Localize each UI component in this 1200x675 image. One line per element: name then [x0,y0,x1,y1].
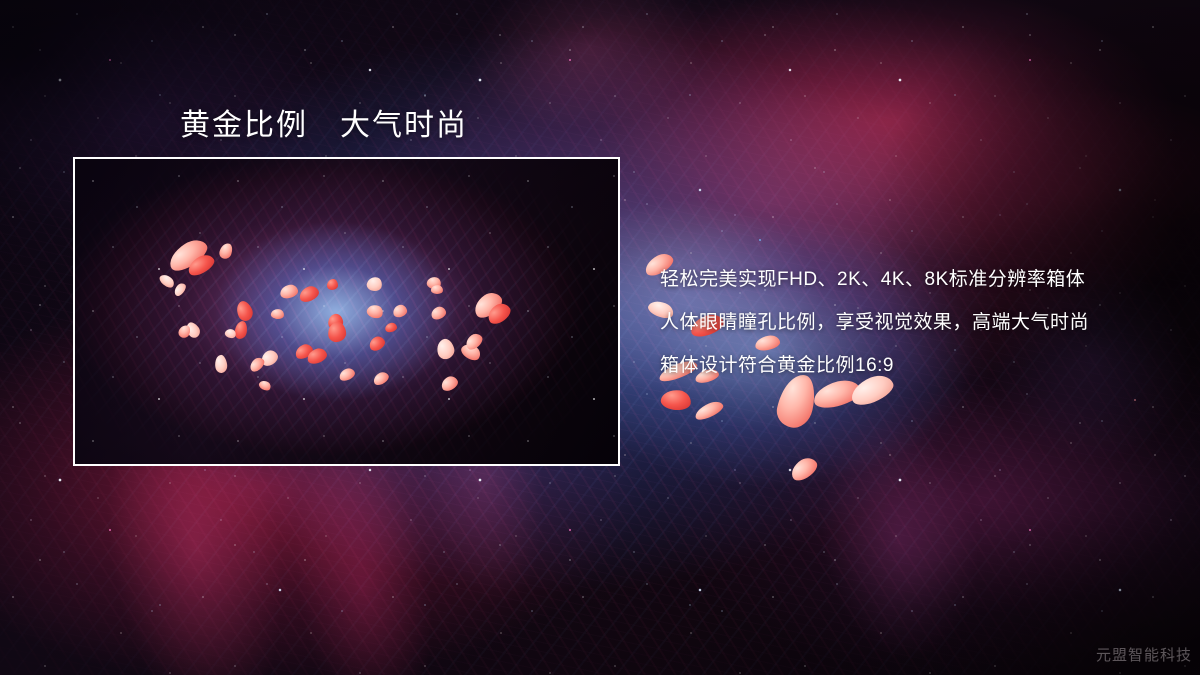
body-text-block: 轻松完美实现FHD、2K、4K、8K标准分辨率箱体 人体眼睛瞳孔比例，享受视觉效… [660,258,1170,387]
petal [234,320,248,339]
petal [305,346,328,365]
petal [258,379,273,393]
petal [429,305,447,321]
petal [392,303,409,318]
petal [693,398,726,422]
petal [338,366,357,382]
petal [327,321,347,343]
body-line: 轻松完美实现FHD、2K、4K、8K标准分辨率箱体 [660,258,1170,301]
body-line: 箱体设计符合黄金比例16:9 [660,344,1170,387]
petal [459,341,483,364]
petal [431,284,444,294]
petal [371,370,390,387]
framed-nebula-wisps [75,159,618,464]
petal [484,300,513,327]
petal [367,334,387,353]
petal [327,313,344,330]
petal [183,320,202,340]
petal [293,342,315,361]
petal [366,275,384,292]
petal [185,251,217,278]
petal [164,235,211,276]
petal [426,275,443,290]
petal [470,288,506,321]
watermark: 元盟智能科技 [1096,644,1192,665]
petal [435,337,457,361]
petal [172,281,188,298]
petal [384,322,398,333]
petal [234,299,256,323]
petal [787,454,820,484]
petal [327,279,338,290]
framed-nebula-image [75,159,618,464]
petal [660,388,692,412]
petal [177,323,192,339]
petal [247,355,266,374]
petal [365,303,384,321]
page-title: 黄金比例 大气时尚 [180,100,468,144]
presentation-slide: 黄金比例 大气时尚 轻松完美实现FHD、2K、4K、8K标准分辨率箱体 人体眼睛… [0,0,1200,675]
nebula-photo-frame [73,157,620,466]
petal [224,327,237,339]
body-line: 人体眼睛瞳孔比例，享受视觉效果，高端大气时尚 [660,301,1170,344]
framed-starfield [75,159,618,464]
petal [463,331,485,352]
petal [279,283,299,299]
petal [158,272,177,290]
petal [259,348,281,369]
petal [270,308,284,320]
petal [439,374,460,393]
petal [297,284,321,304]
petal [214,354,228,373]
petal [218,242,234,261]
